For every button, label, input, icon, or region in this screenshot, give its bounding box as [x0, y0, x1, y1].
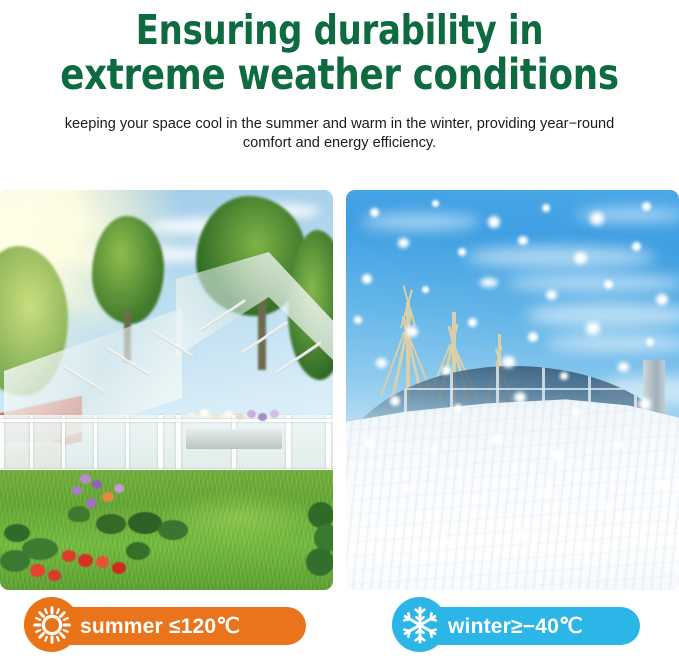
- summer-badge-label: summer ≤120℃: [80, 614, 240, 639]
- winter-badge-label: winter≥−40℃: [448, 614, 583, 639]
- page-title-line-2: extreme weather conditions: [27, 53, 652, 98]
- temperature-badges: summer ≤120℃: [0, 597, 679, 658]
- cloud: [360, 214, 480, 230]
- page-title-line-1: Ensuring durability in: [27, 8, 652, 53]
- cloud: [506, 274, 679, 292]
- summer-greenhouse-photo: [0, 190, 333, 590]
- garden-bed: [0, 520, 150, 590]
- planter-flowers: [186, 408, 286, 426]
- photo-row: [0, 190, 679, 590]
- flower-planter: [186, 429, 282, 449]
- summer-temperature-badge[interactable]: summer ≤120℃: [24, 597, 306, 655]
- winter-greenhouse-photo: [346, 190, 679, 590]
- snow-ground: [346, 385, 679, 590]
- tree: [92, 216, 164, 324]
- side-shrub: [300, 502, 333, 582]
- cloud: [466, 246, 656, 268]
- snowflake-icon: [392, 597, 447, 652]
- page-subtitle: keeping your space cool in the summer an…: [0, 115, 679, 153]
- winter-temperature-badge[interactable]: winter≥−40℃: [392, 597, 640, 655]
- header: Ensuring durability in extreme weather c…: [0, 0, 679, 153]
- sun-icon: [24, 597, 79, 652]
